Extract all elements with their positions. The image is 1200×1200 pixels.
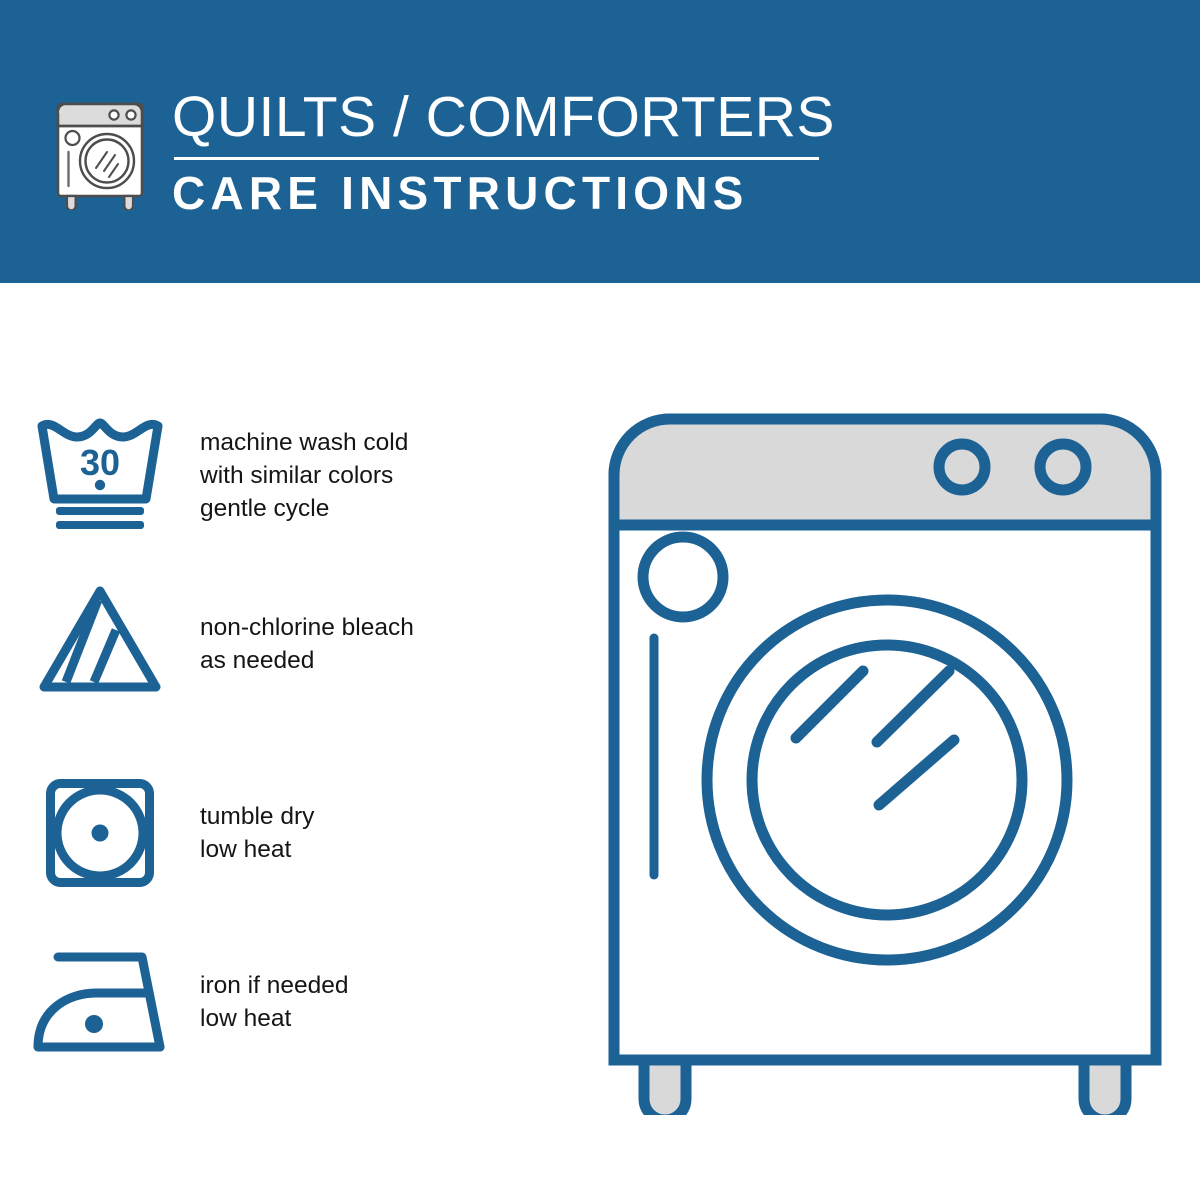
care-text: iron if needed low heat <box>200 948 348 1035</box>
care-text: tumble dry low heat <box>200 777 314 866</box>
title-divider <box>174 157 819 160</box>
wash-temperature-label: 30 <box>80 442 120 483</box>
header-banner: QUILTS / COMFORTERS CARE INSTRUCTIONS <box>0 0 1200 283</box>
front-load-washing-machine-illustration <box>600 405 1170 1115</box>
care-text-line: low heat <box>200 833 314 866</box>
care-text-line: non-chlorine bleach <box>200 611 414 644</box>
page-title: QUILTS / COMFORTERS <box>172 84 832 150</box>
care-row: tumble dry low heat <box>0 777 560 889</box>
tumble-dry-low-heat-icon <box>0 777 200 889</box>
washing-machine-icon <box>52 82 156 210</box>
care-text-line: as needed <box>200 644 414 677</box>
care-text-line: machine wash cold <box>200 426 408 459</box>
care-row: 30 machine wash cold with similar colors… <box>0 413 560 531</box>
care-text-line: with similar colors <box>200 459 408 492</box>
washer-detergent-port <box>643 537 723 617</box>
care-text-line: low heat <box>200 1002 348 1035</box>
page-subtitle: CARE INSTRUCTIONS <box>172 166 832 220</box>
washer-knob-right <box>1040 444 1086 490</box>
wash-tub-30-gentle-icon: 30 <box>0 413 200 531</box>
non-chlorine-bleach-triangle-icon <box>0 584 200 694</box>
care-text: non-chlorine bleach as needed <box>200 584 414 677</box>
washer-knob-left <box>939 444 985 490</box>
care-row: iron if needed low heat <box>0 948 560 1054</box>
title-block: QUILTS / COMFORTERS CARE INSTRUCTIONS <box>172 84 832 220</box>
care-instructions-page: QUILTS / COMFORTERS CARE INSTRUCTIONS 30 <box>0 0 1200 1200</box>
care-text-line: tumble dry <box>200 800 314 833</box>
washer-door-inner <box>752 645 1022 915</box>
care-text-line: iron if needed <box>200 969 348 1002</box>
care-symbol-list: 30 machine wash cold with similar colors… <box>0 283 560 1200</box>
care-text-line: gentle cycle <box>200 492 408 525</box>
care-row: non-chlorine bleach as needed <box>0 584 560 694</box>
washer-leg-left <box>644 1060 686 1115</box>
washer-leg-right <box>1084 1060 1126 1115</box>
iron-low-heat-icon <box>0 948 200 1054</box>
care-text: machine wash cold with similar colors ge… <box>200 413 408 525</box>
